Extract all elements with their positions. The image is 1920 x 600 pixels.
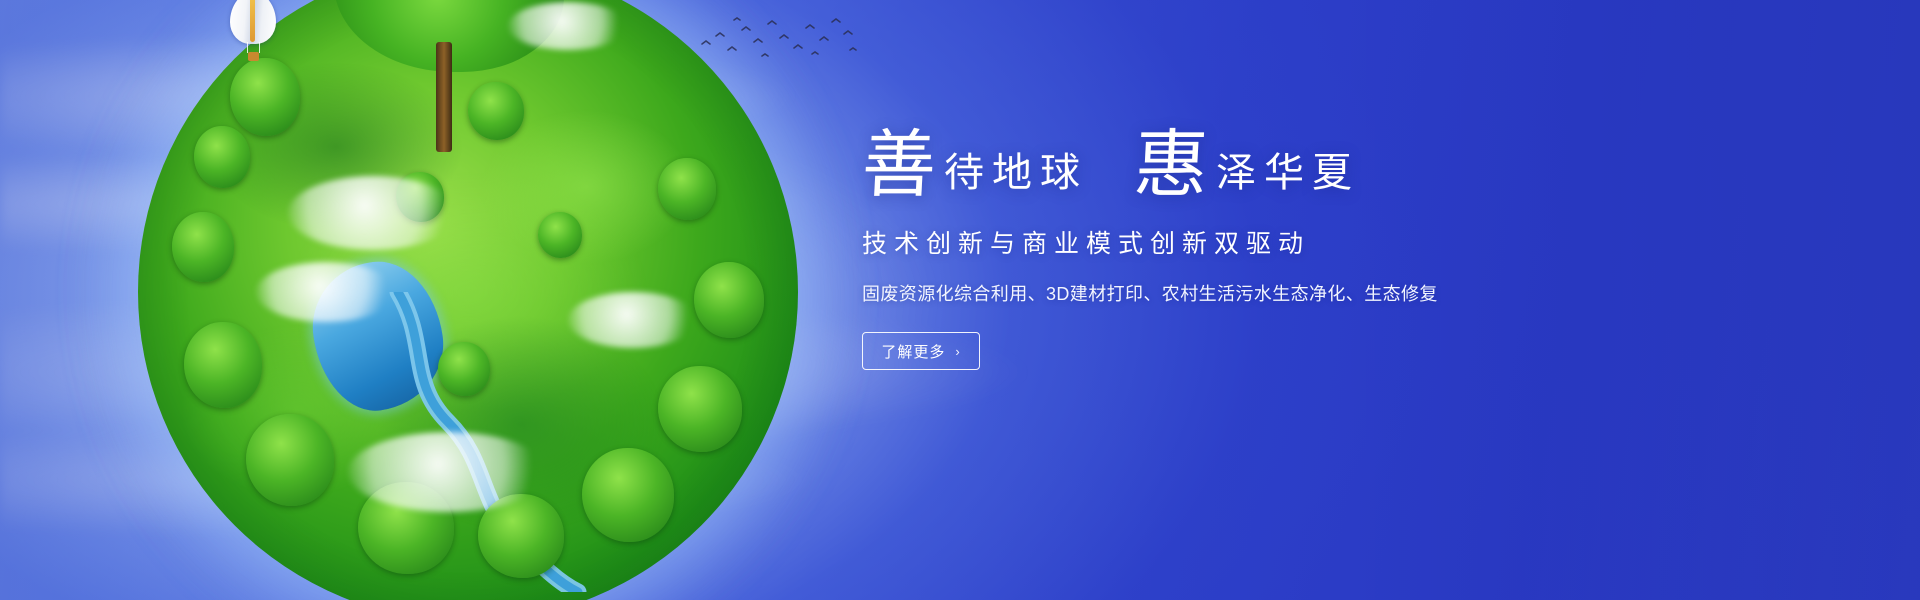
banner-content: 善 待地球 惠 泽华夏 技术创新与商业模式创新双驱动 固废资源化综合利用、3D建… <box>862 128 1562 370</box>
balloon-basket <box>248 52 259 61</box>
headline-rest-1: 待地球 <box>944 153 1088 193</box>
tree-icon <box>184 322 262 408</box>
banner-subtitle: 技术创新与商业模式创新双驱动 <box>862 224 1562 260</box>
hot-air-balloon-icon <box>230 0 276 66</box>
tree-icon <box>468 82 524 140</box>
tree-icon <box>246 414 334 506</box>
tiny-planet-illustration <box>138 0 798 600</box>
headline-brush-char-1: 善 <box>860 128 938 202</box>
tree-icon <box>582 448 674 542</box>
tree-icon <box>694 262 764 338</box>
tree-icon <box>194 126 250 188</box>
headline-rest-2: 泽华夏 <box>1216 153 1360 193</box>
tree-icon <box>172 212 234 282</box>
birds-icon <box>698 14 858 66</box>
learn-more-label: 了解更多 <box>881 341 945 362</box>
planet-globe <box>138 0 798 600</box>
headline-brush-char-2: 惠 <box>1132 128 1210 202</box>
banner-headline: 善 待地球 惠 泽华夏 <box>862 128 1562 202</box>
balloon-stripe <box>250 0 255 42</box>
tree-icon <box>538 212 582 258</box>
tree-icon <box>658 158 716 220</box>
tree-icon <box>658 366 742 452</box>
tree-icon <box>230 58 300 136</box>
hero-banner: 善 待地球 惠 泽华夏 技术创新与商业模式创新双驱动 固废资源化综合利用、3D建… <box>0 0 1920 600</box>
chevron-right-icon: › <box>955 344 960 359</box>
banner-description: 固废资源化综合利用、3D建材打印、农村生活污水生态净化、生态修复 <box>862 280 1562 306</box>
learn-more-button[interactable]: 了解更多 › <box>862 332 980 370</box>
cloud-icon <box>568 292 698 348</box>
cloud-icon <box>288 176 458 250</box>
cloud-icon <box>256 262 396 322</box>
cloud-icon <box>348 432 548 512</box>
hero-tree-trunk-icon <box>436 42 452 152</box>
tree-icon <box>438 342 490 396</box>
cloud-icon <box>508 2 628 50</box>
